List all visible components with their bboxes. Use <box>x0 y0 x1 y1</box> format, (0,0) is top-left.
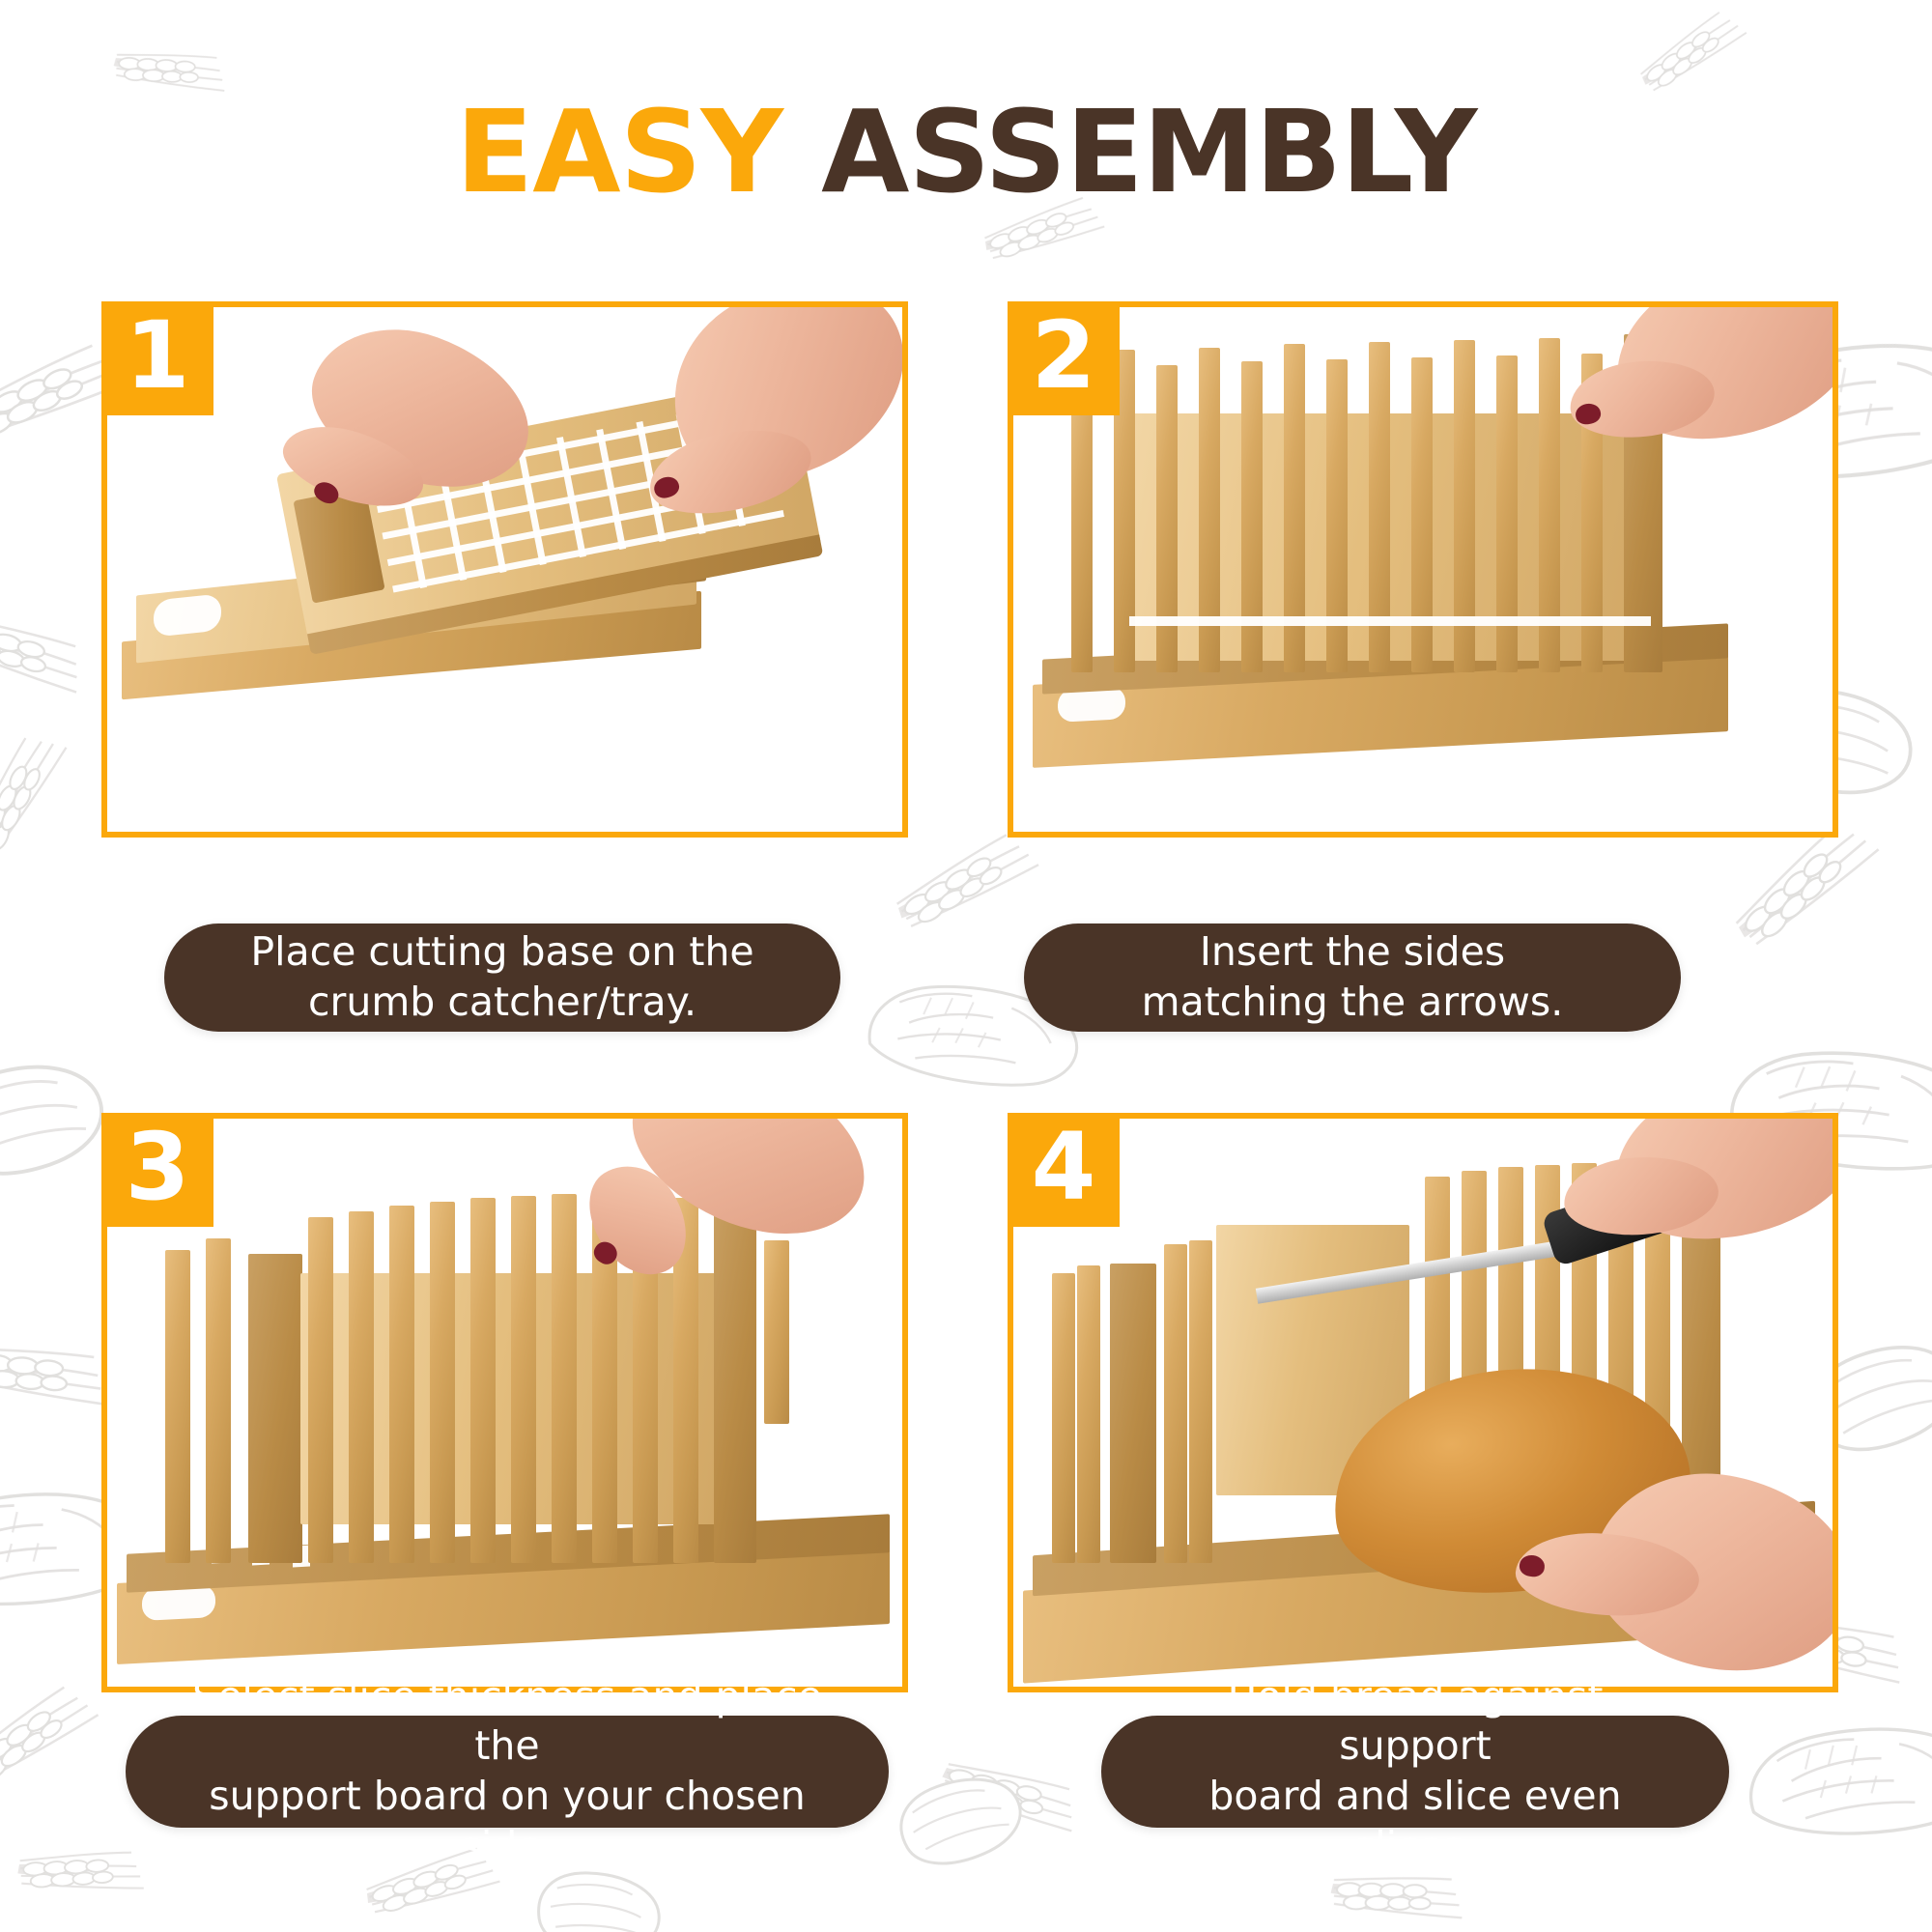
step-panel-4[interactable]: 4 <box>1008 1113 1838 1692</box>
step-panel-2[interactable]: 2 <box>1008 301 1838 838</box>
step-number-4: 4 <box>1032 1121 1096 1213</box>
step-number-badge-3: 3 <box>101 1113 213 1227</box>
step-caption-3-line2: support board on your chosen side. <box>209 1773 805 1869</box>
step-caption-2-line1: Insert the sides <box>1200 928 1505 975</box>
right-hand <box>629 336 902 607</box>
step-panel-1[interactable]: 1 <box>101 301 908 838</box>
step-caption-3: Select slice thickness and place the sup… <box>126 1716 889 1828</box>
step-1-photo <box>107 307 902 832</box>
step-number-3: 3 <box>126 1121 190 1213</box>
support-board <box>1110 1264 1156 1563</box>
step-caption-4: Hold bread against support board and sli… <box>1101 1716 1729 1828</box>
step-caption-2-line2: matching the arrows. <box>1142 979 1564 1025</box>
step-4-photo <box>1013 1119 1833 1687</box>
step-caption-1-line2: crumb catcher/tray. <box>308 979 696 1025</box>
right-hand <box>561 1119 870 1341</box>
step-3-photo <box>107 1119 902 1687</box>
step-caption-4-line2: board and slice even slices. <box>1208 1773 1621 1869</box>
infographic-canvas: EASY ASSEMBLY <box>0 0 1932 1932</box>
step-caption-3-line1: Select slice thickness and place the <box>192 1673 822 1770</box>
knife-hand <box>1554 1119 1833 1321</box>
step-caption-1: Place cutting base on the crumb catcher/… <box>164 923 840 1032</box>
step-caption-2: Insert the sides matching the arrows. <box>1024 923 1681 1032</box>
title-word-assembly: ASSEMBLY <box>821 85 1476 218</box>
step-number-1: 1 <box>126 309 190 402</box>
step-caption-4-line1: Hold bread against support <box>1228 1673 1604 1770</box>
step-number-badge-1: 1 <box>101 301 213 415</box>
right-hand <box>1554 307 1833 549</box>
title-word-easy: EASY <box>456 85 782 218</box>
step-caption-1-line1: Place cutting base on the <box>250 928 753 975</box>
step-number-badge-4: 4 <box>1008 1113 1120 1227</box>
step-panel-3[interactable]: 3 <box>101 1113 908 1692</box>
left-hand <box>271 365 542 597</box>
bread-hand <box>1516 1437 1833 1679</box>
step-2-photo <box>1013 307 1833 832</box>
step-number-2: 2 <box>1032 309 1096 402</box>
step-number-badge-2: 2 <box>1008 301 1120 415</box>
support-board <box>248 1254 302 1563</box>
page-title: EASY ASSEMBLY <box>0 93 1932 213</box>
